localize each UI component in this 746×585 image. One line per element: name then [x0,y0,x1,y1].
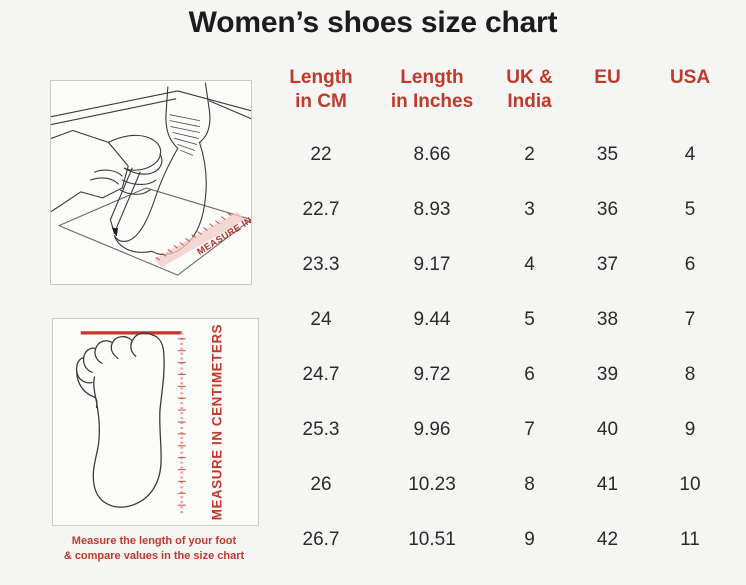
cell-usa: 4 [644,128,736,183]
tracing-foot-drawing: MEASURE IN CENTIMETERS [51,81,251,284]
column-header-usa: USA [644,66,736,128]
cell-uk: 2 [488,128,571,183]
table-body: 22 8.66 2 35 4 22.7 8.93 3 36 5 23.3 9.1… [266,128,736,568]
table-row: 24 9.44 5 38 7 [266,293,736,348]
cell-usa: 6 [644,238,736,293]
cell-usa: 9 [644,403,736,458]
cell-in: 9.96 [376,403,488,458]
cell-uk: 4 [488,238,571,293]
header-eu-line1: EU [571,66,644,90]
caption-line-2: & compare values in the size chart [48,549,260,564]
cell-cm: 24 [266,293,376,348]
header-cm-line1: Length [266,66,376,90]
header-cm-line2: in CM [266,90,376,114]
cell-eu: 39 [571,348,644,403]
cell-eu: 40 [571,403,644,458]
header-in-line2: in Inches [376,90,488,114]
header-uk-line1: UK & [488,66,571,90]
cell-uk: 6 [488,348,571,403]
header-usa-line1: USA [644,66,736,90]
cell-cm: 25.3 [266,403,376,458]
cell-eu: 35 [571,128,644,183]
foot-outline-drawing: MEASURE IN CENTIMETERS [53,319,258,525]
cell-cm: 23.3 [266,238,376,293]
cell-in: 10.51 [376,513,488,568]
cell-in: 9.44 [376,293,488,348]
ruler-label-top: MEASURE IN CENTIMETERS [195,175,251,257]
cell-usa: 7 [644,293,736,348]
cell-in: 9.72 [376,348,488,403]
cell-cm: 26 [266,458,376,513]
cell-cm: 22 [266,128,376,183]
cell-in: 8.66 [376,128,488,183]
size-chart-table-wrapper: Length in CM Length in Inches UK & India… [266,66,736,568]
column-header-length-inches: Length in Inches [376,66,488,128]
cell-usa: 8 [644,348,736,403]
cell-uk: 9 [488,513,571,568]
table-row: 26 10.23 8 41 10 [266,458,736,513]
cell-cm: 22.7 [266,183,376,238]
cell-in: 10.23 [376,458,488,513]
column-header-length-cm: Length in CM [266,66,376,128]
cell-uk: 8 [488,458,571,513]
cell-uk: 3 [488,183,571,238]
table-row: 24.7 9.72 6 39 8 [266,348,736,403]
table-row: 23.3 9.17 4 37 6 [266,238,736,293]
table-row: 25.3 9.96 7 40 9 [266,403,736,458]
cell-eu: 36 [571,183,644,238]
cell-usa: 11 [644,513,736,568]
illustration-column: MEASURE IN CENTIMETERS [50,80,252,564]
foot-outline-path [93,335,164,507]
cell-eu: 38 [571,293,644,348]
column-header-uk-india: UK & India [488,66,571,128]
table-row: 22.7 8.93 3 36 5 [266,183,736,238]
cell-cm: 26.7 [266,513,376,568]
cell-cm: 24.7 [266,348,376,403]
caption-line-1: Measure the length of your foot [48,534,260,549]
cell-uk: 5 [488,293,571,348]
cell-eu: 41 [571,458,644,513]
table-row: 22 8.66 2 35 4 [266,128,736,183]
header-in-line1: Length [376,66,488,90]
size-chart-page: Women’s shoes size chart [0,0,746,585]
header-uk-line2: India [488,90,571,114]
page-title: Women’s shoes size chart [0,6,746,40]
cell-in: 9.17 [376,238,488,293]
cell-usa: 5 [644,183,736,238]
measure-instructions: Measure the length of your foot & compar… [48,534,260,564]
cell-eu: 42 [571,513,644,568]
table-row: 26.7 10.51 9 42 11 [266,513,736,568]
cell-uk: 7 [488,403,571,458]
cell-usa: 10 [644,458,736,513]
ruler-label-bottom: MEASURE IN CENTIMETERS [209,324,224,520]
foot-outline-illustration: MEASURE IN CENTIMETERS [52,318,259,526]
cell-eu: 37 [571,238,644,293]
table-head: Length in CM Length in Inches UK & India… [266,66,736,128]
column-header-eu: EU [571,66,644,128]
size-chart-table: Length in CM Length in Inches UK & India… [266,66,736,568]
header-row: Length in CM Length in Inches UK & India… [266,66,736,128]
tracing-foot-illustration: MEASURE IN CENTIMETERS [50,80,252,285]
cell-in: 8.93 [376,183,488,238]
